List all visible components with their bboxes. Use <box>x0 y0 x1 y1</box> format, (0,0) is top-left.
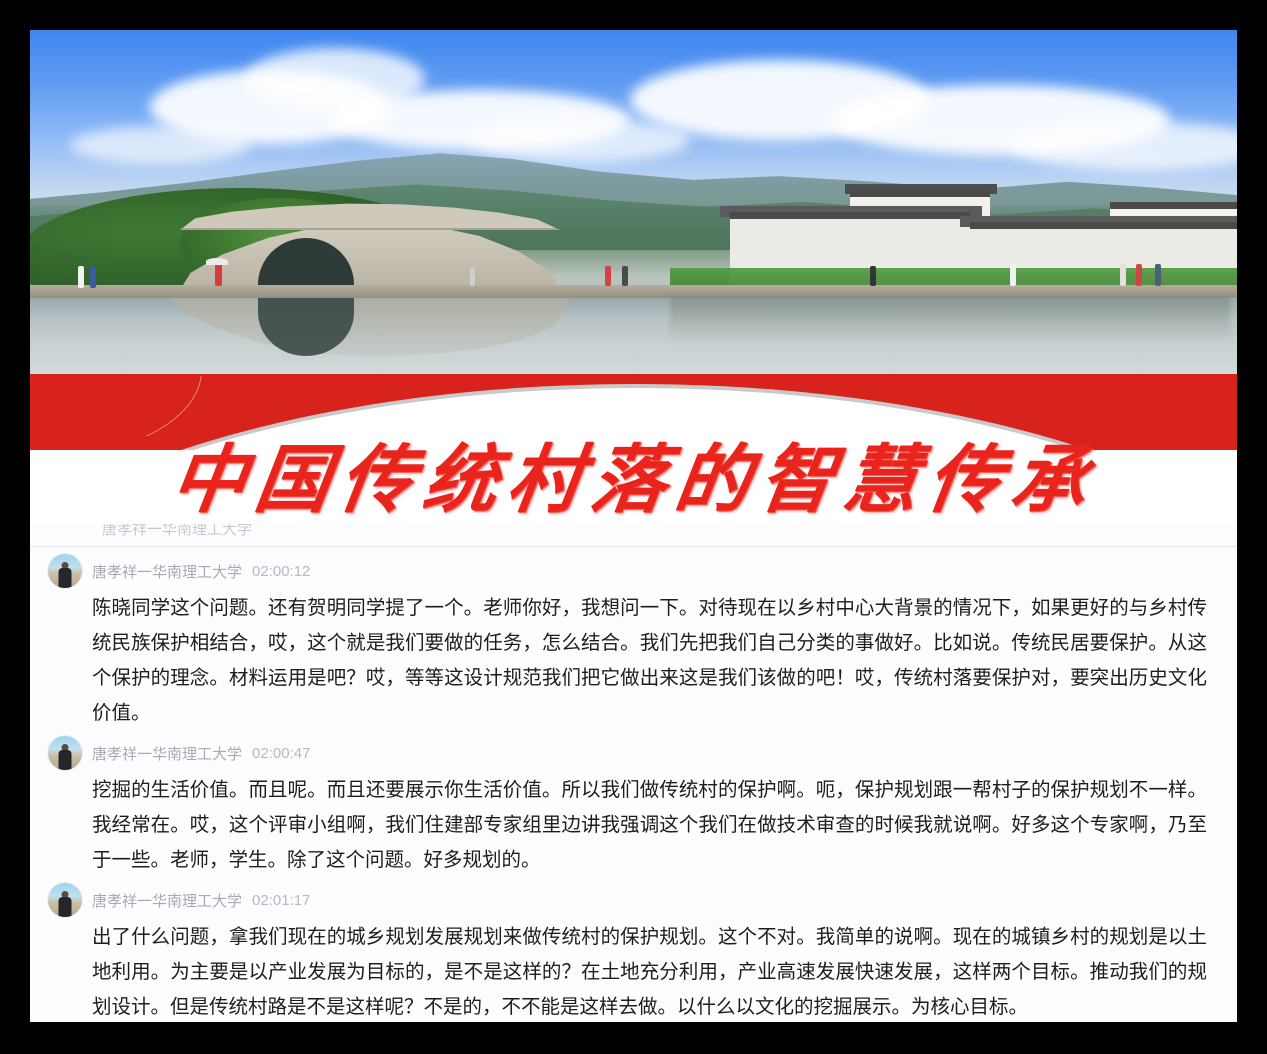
avatar[interactable] <box>48 554 82 588</box>
title-zone: 中国传统村落的智慧传承 <box>30 436 1237 524</box>
message-timestamp: 02:00:12 <box>252 563 310 580</box>
visitor-figure <box>1120 264 1126 286</box>
message-text: 出了什么问题，拿我们现在的城乡规划发展规划来做传统村的保护规划。这个不对。我简单… <box>48 919 1215 1022</box>
cloud <box>470 118 690 162</box>
avatar-body <box>59 568 72 588</box>
list-item[interactable]: 唐孝祥一华南理工大学 02:00:12 陈晓同学这个问题。还有贺明同学提了一个。… <box>30 554 1237 730</box>
message-header: 唐孝祥一华南理工大学 02:00:47 <box>48 736 1215 770</box>
visitor-figure <box>622 266 628 286</box>
page-title: 中国传统村落的智慧传承 <box>166 443 1100 517</box>
message-header: 唐孝祥一华南理工大学 02:00:12 <box>48 554 1215 588</box>
avatar[interactable] <box>48 736 82 770</box>
message-list: 唐孝祥一华南理工大学 02:00:12 陈晓同学这个问题。还有贺明同学提了一个。… <box>30 554 1237 1022</box>
transcript-divider <box>30 546 1237 547</box>
cloud <box>70 126 250 164</box>
avatar-body <box>59 750 72 770</box>
visitor-figure <box>1136 264 1142 286</box>
ribbon-line-decor <box>40 376 220 436</box>
visitor-figure <box>90 266 96 288</box>
visitor-figure <box>215 264 222 286</box>
visitor-figure <box>470 268 475 286</box>
message-text: 挖掘的生活价值。而且呢。而且还要展示你生活价值。所以我们做传统村的保护啊。呃，保… <box>48 772 1215 877</box>
list-item[interactable]: 唐孝祥一华南理工大学 02:01:17 出了什么问题，拿我们现在的城乡规划发展规… <box>30 883 1237 1022</box>
avatar[interactable] <box>48 883 82 917</box>
message-text: 陈晓同学这个问题。还有贺明同学提了一个。老师你好，我想问一下。对待现在以乡村中心… <box>48 590 1215 730</box>
visitor-figure <box>1155 264 1161 286</box>
clipped-message-row: 唐孝祥一华南理工大学 <box>102 524 252 540</box>
message-sender: 唐孝祥一华南理工大学 <box>92 743 242 764</box>
message-sender: 唐孝祥一华南理工大学 <box>92 561 242 582</box>
screenshot-root: 中国传统村落的智慧传承 唐孝祥一华南理工大学 唐孝祥一华南理工大学 02:00:… <box>0 0 1267 1054</box>
umbrella <box>206 258 228 265</box>
visitor-figure <box>870 266 876 286</box>
visitor-figure <box>605 266 611 286</box>
visitor-figure <box>1010 264 1016 286</box>
message-sender: 唐孝祥一华南理工大学 <box>92 890 242 911</box>
message-timestamp: 02:01:17 <box>252 892 310 909</box>
list-item[interactable]: 唐孝祥一华南理工大学 02:00:47 挖掘的生活价值。而且呢。而且还要展示你生… <box>30 736 1237 877</box>
visitor-figure <box>78 266 84 288</box>
presentation-slide: 中国传统村落的智慧传承 唐孝祥一华南理工大学 唐孝祥一华南理工大学 02:00:… <box>30 30 1237 1022</box>
message-header: 唐孝祥一华南理工大学 02:01:17 <box>48 883 1215 917</box>
banner-photo <box>30 30 1237 382</box>
avatar-body <box>59 897 72 917</box>
message-timestamp: 02:00:47 <box>252 745 310 762</box>
village-reflection <box>670 296 1230 342</box>
transcript-panel[interactable]: 唐孝祥一华南理工大学 唐孝祥一华南理工大学 02:00:12 陈晓同学这个问题。… <box>30 524 1237 1022</box>
